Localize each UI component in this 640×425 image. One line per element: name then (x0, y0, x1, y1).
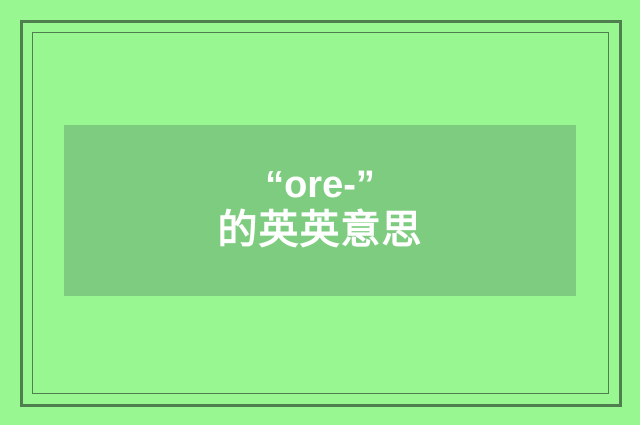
card-root: “ore-” 的英英意思 (0, 0, 640, 425)
title-line-primary: “ore-” (218, 166, 423, 205)
title-block: “ore-” 的英英意思 (218, 166, 423, 256)
title-line-secondary: 的英英意思 (218, 210, 423, 251)
content-panel: “ore-” 的英英意思 (64, 125, 576, 296)
